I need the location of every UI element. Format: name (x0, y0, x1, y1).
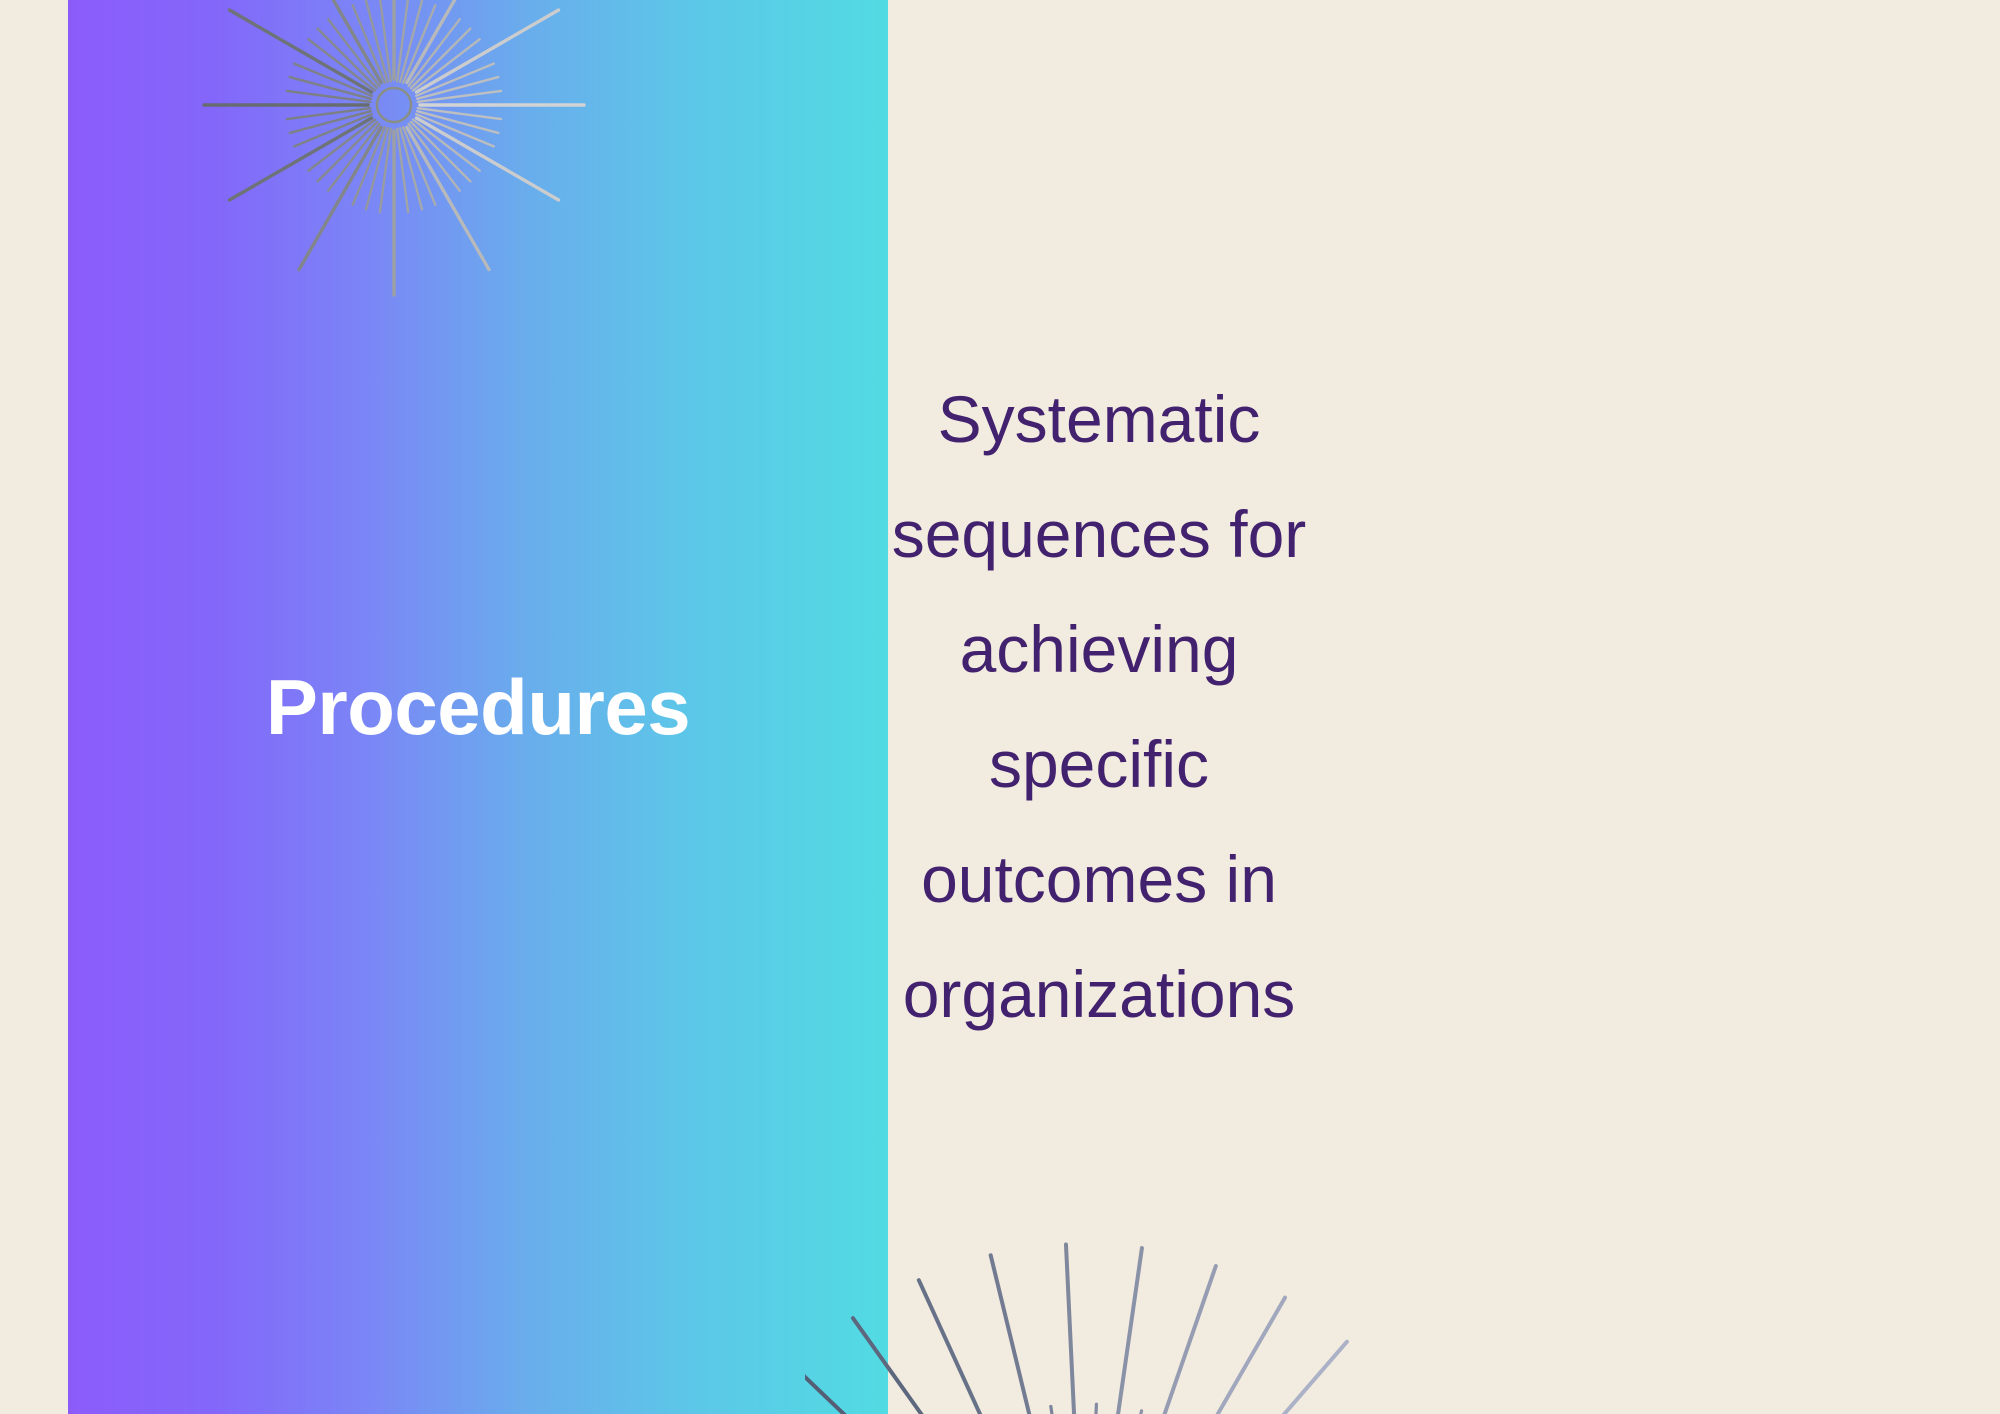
gradient-panel: Procedures (68, 0, 888, 1414)
body-copy-block: Systematic sequences for achieving speci… (888, 0, 2000, 1414)
copy-line: organizations (903, 937, 1296, 1052)
copy-line: specific (989, 707, 1209, 822)
copy-line: achieving (960, 592, 1239, 707)
panel-title-wrap: Procedures (68, 0, 888, 1414)
copy-line: sequences for (892, 477, 1307, 592)
copy-line: outcomes in (921, 822, 1277, 937)
page-title: Procedures (266, 668, 690, 746)
slide-canvas: Procedures Systematic sequences for achi… (0, 0, 2000, 1414)
copy-line: Systematic (938, 362, 1261, 477)
